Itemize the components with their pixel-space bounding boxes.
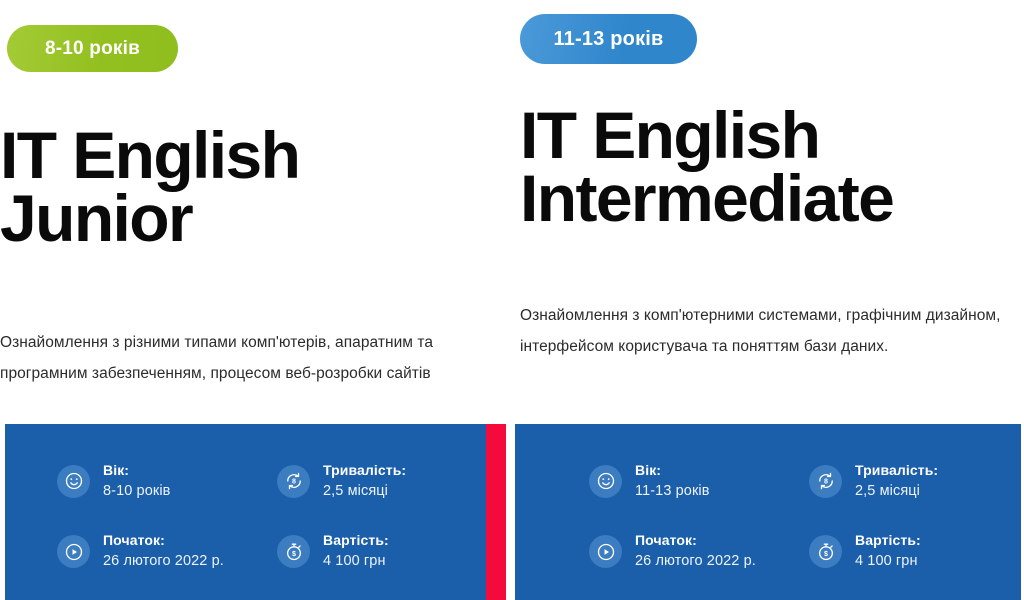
info-grid: Вік: 8-10 років 8 (57, 461, 476, 572)
panel-accent-divider (486, 424, 506, 600)
info-item-start: Початок: 26 лютого 2022 р. (57, 531, 277, 571)
course-info-panel-junior: Вік: 8-10 років 8 (5, 424, 486, 600)
info-label-price: Вартість: (855, 531, 921, 551)
info-value-start: 26 лютого 2022 р. (635, 551, 756, 572)
svg-text:$: $ (292, 550, 296, 558)
info-label-start: Початок: (103, 531, 224, 551)
info-item-duration: 8 Тривалість: 2,5 місяці (277, 461, 476, 501)
info-label-age: Вік: (635, 461, 710, 481)
info-text: Початок: 26 лютого 2022 р. (103, 531, 224, 571)
info-item-duration: 8 Тривалість: 2,5 місяці (809, 461, 1011, 501)
info-text: Вартість: 4 100 грн (855, 531, 921, 571)
info-grid: Вік: 11-13 років 8 (589, 461, 1011, 572)
course-card-junior[interactable]: 8-10 років IT English Junior Ознайомленн… (0, 0, 512, 600)
info-label-age: Вік: (103, 461, 170, 481)
info-value-price: 4 100 грн (323, 551, 389, 572)
svg-text:$: $ (824, 550, 828, 558)
age-badge-intermediate: 11-13 років (520, 14, 697, 64)
info-label-duration: Тривалість: (855, 461, 938, 481)
info-text: Тривалість: 2,5 місяці (855, 461, 938, 501)
course-info-panel-intermediate: Вік: 11-13 років 8 (515, 424, 1021, 600)
info-value-duration: 2,5 місяці (323, 481, 406, 502)
info-text: Вартість: 4 100 грн (323, 531, 389, 571)
play-circle-icon (589, 535, 622, 568)
info-value-age: 8-10 років (103, 481, 170, 502)
smiley-face-icon (57, 465, 90, 498)
course-description-intermediate: Ознайомлення з комп'ютерними системами, … (520, 300, 1015, 362)
duration-cycle-icon: 8 (277, 465, 310, 498)
price-stopwatch-icon: $ (277, 535, 310, 568)
course-title-junior: IT English Junior (0, 124, 500, 249)
info-value-age: 11-13 років (635, 481, 710, 502)
play-circle-icon (57, 535, 90, 568)
info-item-price: $ Вартість: 4 100 грн (277, 531, 476, 571)
duration-cycle-icon: 8 (809, 465, 842, 498)
course-title-intermediate: IT English Intermediate (520, 104, 1024, 229)
info-label-start: Початок: (635, 531, 756, 551)
smiley-face-icon (589, 465, 622, 498)
info-item-start: Початок: 26 лютого 2022 р. (589, 531, 809, 571)
info-text: Вік: 8-10 років (103, 461, 170, 501)
info-text: Початок: 26 лютого 2022 р. (635, 531, 756, 571)
info-value-price: 4 100 грн (855, 551, 921, 572)
info-text: Вік: 11-13 років (635, 461, 710, 501)
price-stopwatch-icon: $ (809, 535, 842, 568)
svg-text:8: 8 (824, 478, 828, 486)
info-text: Тривалість: 2,5 місяці (323, 461, 406, 501)
info-label-price: Вартість: (323, 531, 389, 551)
info-value-start: 26 лютого 2022 р. (103, 551, 224, 572)
info-item-age: Вік: 11-13 років (589, 461, 809, 501)
course-description-junior: Ознайомлення з різними типами комп'ютері… (0, 327, 503, 389)
svg-text:8: 8 (292, 478, 296, 486)
info-item-age: Вік: 8-10 років (57, 461, 277, 501)
course-card-list: 8-10 років IT English Junior Ознайомленн… (0, 0, 1024, 600)
info-item-price: $ Вартість: 4 100 грн (809, 531, 1011, 571)
course-card-intermediate[interactable]: 11-13 років IT English Intermediate Озна… (512, 0, 1024, 600)
age-badge-junior: 8-10 років (7, 25, 178, 72)
info-label-duration: Тривалість: (323, 461, 406, 481)
info-value-duration: 2,5 місяці (855, 481, 938, 502)
